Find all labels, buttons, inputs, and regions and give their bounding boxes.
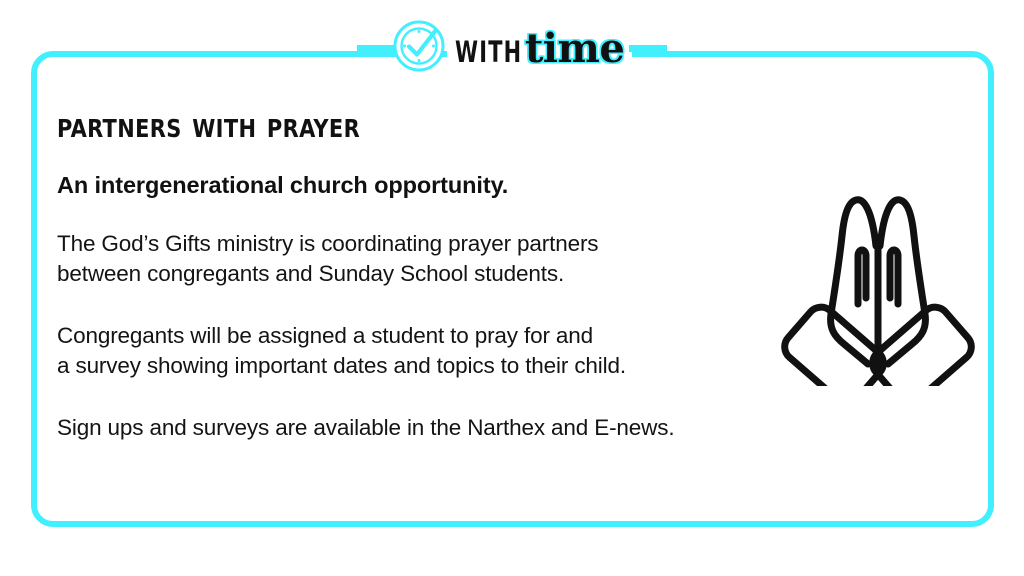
clock-check-icon [391,20,447,77]
brand-word-time: time [525,25,624,72]
body-paragraph-3: Sign ups and surveys are available in th… [57,413,757,443]
brand-wordmark: WITH time [447,25,633,72]
body-paragraph-1: The God’s Gifts ministry is coordinating… [57,229,757,289]
page-subtitle: An intergenerational church opportunity. [57,171,757,199]
brand-logo-lockup: WITH time [0,22,1024,74]
praying-hands-icon [776,186,980,386]
body-paragraph-2: Congregants will be assigned a student t… [57,321,757,381]
brand-word-with: WITH [455,35,522,69]
logo-rule-left [357,45,395,52]
logo-rule-right [629,45,667,52]
slide-canvas: WITH time Partners with Prayer An interg… [0,0,1024,576]
slide-content: Partners with Prayer An intergenerationa… [57,108,757,443]
page-title: Partners with Prayer [57,108,708,145]
